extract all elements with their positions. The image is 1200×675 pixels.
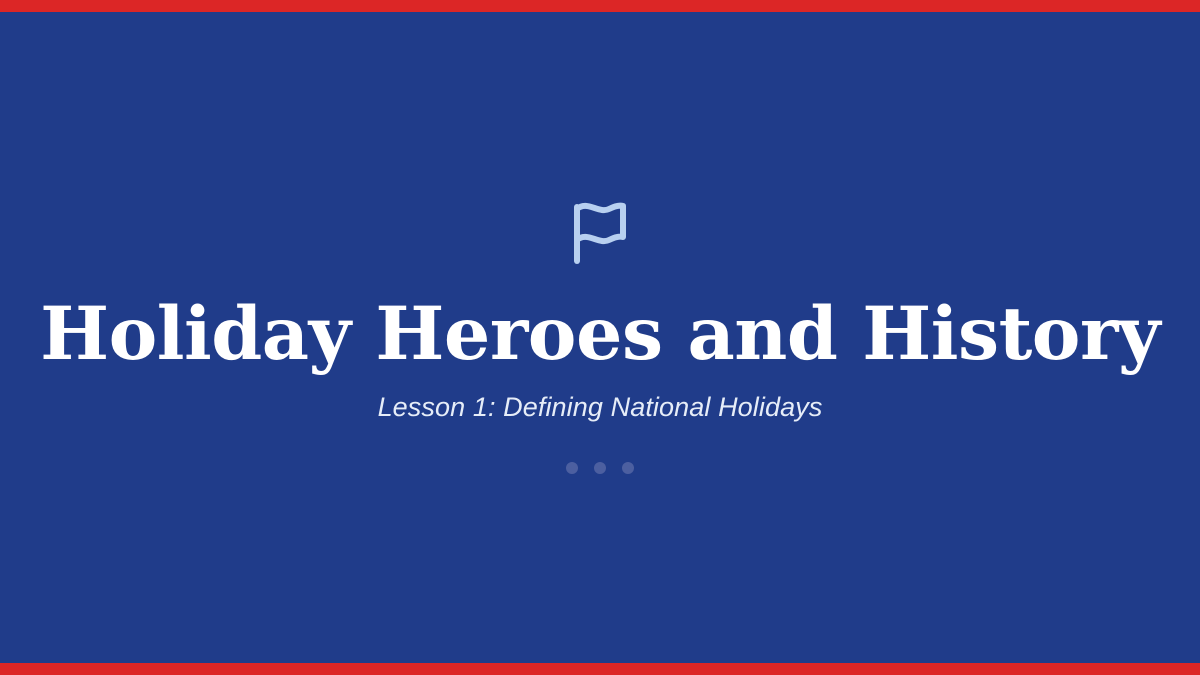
bottom-accent-bar xyxy=(0,663,1200,675)
page-title: Holiday Heroes and History xyxy=(40,297,1160,373)
slide-subtitle: Lesson 1: Defining National Holidays xyxy=(378,391,823,423)
title-slide: Holiday Heroes and History Lesson 1: Def… xyxy=(0,0,1200,675)
flag-icon xyxy=(569,199,631,265)
progress-dot xyxy=(566,462,578,474)
progress-dot xyxy=(594,462,606,474)
progress-dot xyxy=(622,462,634,474)
top-accent-bar xyxy=(0,0,1200,12)
slide-content: Holiday Heroes and History Lesson 1: Def… xyxy=(0,0,1200,675)
progress-dots xyxy=(566,462,634,474)
